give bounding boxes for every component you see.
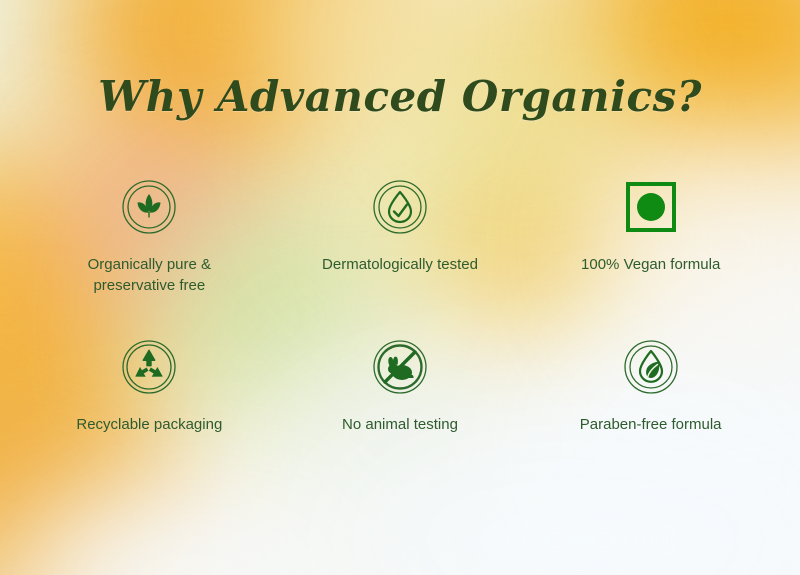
- feature-label-line1: Dermatologically tested: [322, 256, 478, 273]
- feature-item-organically-pure: Organically pure & preservative free: [24, 178, 275, 338]
- feature-label-no-animal-testing: No animal testing: [342, 414, 458, 435]
- feature-label-organically-pure: Organically pure & preservative free: [88, 254, 211, 296]
- feature-label-line1: Paraben-free formula: [580, 416, 722, 433]
- leaves-in-circle-icon: [120, 178, 178, 236]
- recycle-icon: [120, 338, 178, 396]
- feature-label-recyclable-packaging: Recyclable packaging: [76, 414, 222, 435]
- feature-label-line2: preservative free: [88, 275, 211, 296]
- feature-label-line1: No animal testing: [342, 416, 458, 433]
- feature-label-line1: Recyclable packaging: [76, 416, 222, 433]
- vegan-mark-icon: [622, 178, 680, 236]
- feature-label-line1: 100% Vegan formula: [581, 256, 720, 273]
- feature-item-no-animal-testing: No animal testing: [275, 338, 526, 498]
- feature-item-dermatologically-tested: Dermatologically tested: [275, 178, 526, 338]
- feature-label-paraben-free-formula: Paraben-free formula: [580, 414, 722, 435]
- droplet-leaf-icon: [622, 338, 680, 396]
- feature-item-paraben-free-formula: Paraben-free formula: [525, 338, 776, 498]
- banner-title: Why Advanced Organics?: [0, 72, 800, 121]
- feature-label-vegan-formula: 100% Vegan formula: [581, 254, 720, 275]
- no-animal-testing-icon: [371, 338, 429, 396]
- why-advanced-organics-banner: Why Advanced Organics? Organically pure …: [0, 0, 800, 575]
- feature-label-dermatologically-tested: Dermatologically tested: [322, 254, 478, 275]
- feature-label-line1: Organically pure &: [88, 256, 211, 273]
- feature-item-recyclable-packaging: Recyclable packaging: [24, 338, 275, 498]
- droplet-check-icon: [371, 178, 429, 236]
- features-grid: Organically pure & preservative free Der…: [24, 178, 776, 498]
- banner-content: Why Advanced Organics? Organically pure …: [0, 0, 800, 575]
- feature-item-vegan-formula: 100% Vegan formula: [525, 178, 776, 338]
